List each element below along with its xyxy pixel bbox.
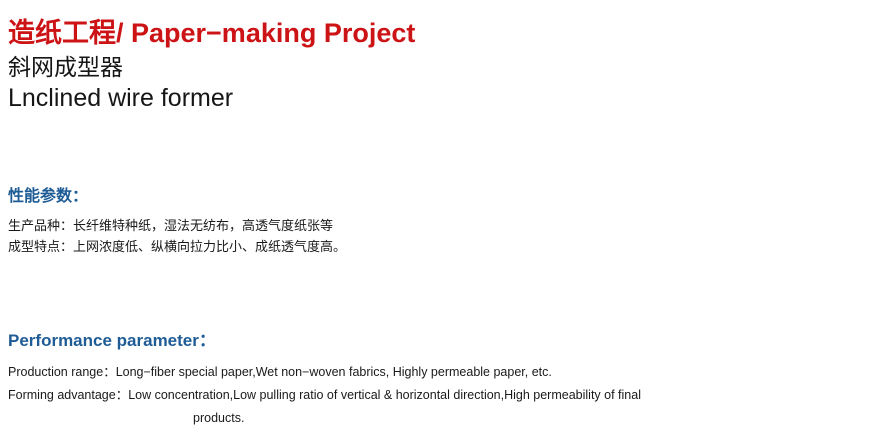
product-name-chinese: 斜网成型器 xyxy=(8,53,708,82)
document-page: 造纸工程/ Paper−making Project 斜网成型器 Lncline… xyxy=(0,0,893,430)
forming-advantage-english-continued: products. xyxy=(8,407,888,430)
page-title: 造纸工程/ Paper−making Project xyxy=(8,16,708,50)
production-range-english: Production range：Long−fiber special pape… xyxy=(8,361,888,384)
section-heading-english: Performance parameter： xyxy=(8,330,888,352)
title-block: 造纸工程/ Paper−making Project 斜网成型器 Lncline… xyxy=(8,16,708,114)
forming-advantage-chinese: 成型特点：上网浓度低、纵横向拉力比小、成纸透气度高。 xyxy=(8,236,708,257)
performance-parameter-section-english: Performance parameter： Production range：… xyxy=(8,330,888,430)
production-range-chinese: 生产品种：长纤维特种纸，湿法无纺布，高透气度纸张等 xyxy=(8,215,708,236)
forming-advantage-english: Forming advantage：Low concentration,Low … xyxy=(8,384,888,407)
performance-parameter-section-chinese: 性能参数： 生产品种：长纤维特种纸，湿法无纺布，高透气度纸张等 成型特点：上网浓… xyxy=(8,186,708,257)
product-name-english: Lnclined wire former xyxy=(8,83,708,114)
section-heading-chinese: 性能参数： xyxy=(8,186,708,207)
